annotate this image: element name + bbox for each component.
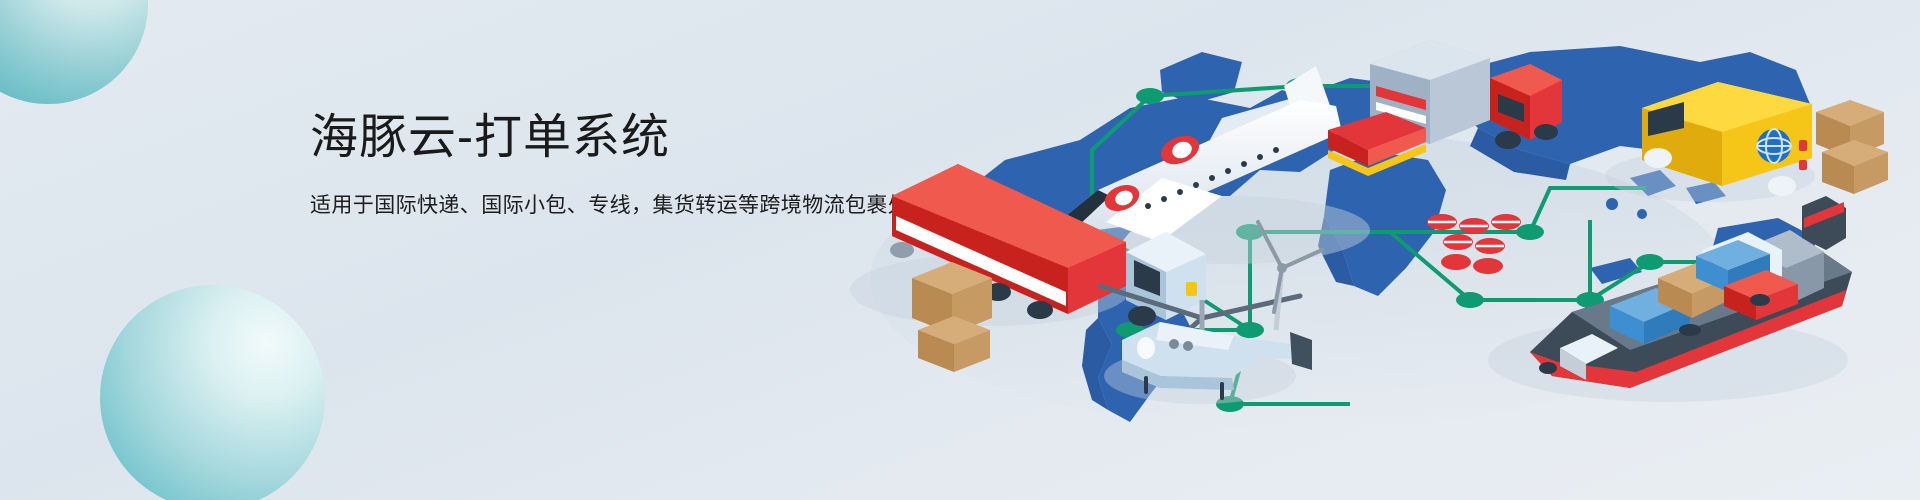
island-dot-b [1637, 209, 1647, 219]
decorative-circle-bottom-left [100, 285, 325, 500]
node-middle-east [1516, 224, 1544, 240]
cargo-boxes-van [1816, 100, 1888, 194]
logistics-illustration [830, 0, 1920, 500]
node-central [1236, 322, 1264, 338]
node-north-pole [1136, 88, 1164, 104]
node-asia-south [1636, 254, 1664, 270]
decorative-circle-top-left [0, 0, 148, 104]
hero-banner: 海豚云-打单系统 适用于国际快递、国际小包、专线，集货转运等跨境物流包裹处理 [0, 0, 1920, 500]
illustration-svg [830, 0, 1920, 500]
island-dot-a [1606, 198, 1618, 210]
node-africa [1456, 292, 1484, 308]
cargo-boxes-truck [912, 262, 992, 372]
